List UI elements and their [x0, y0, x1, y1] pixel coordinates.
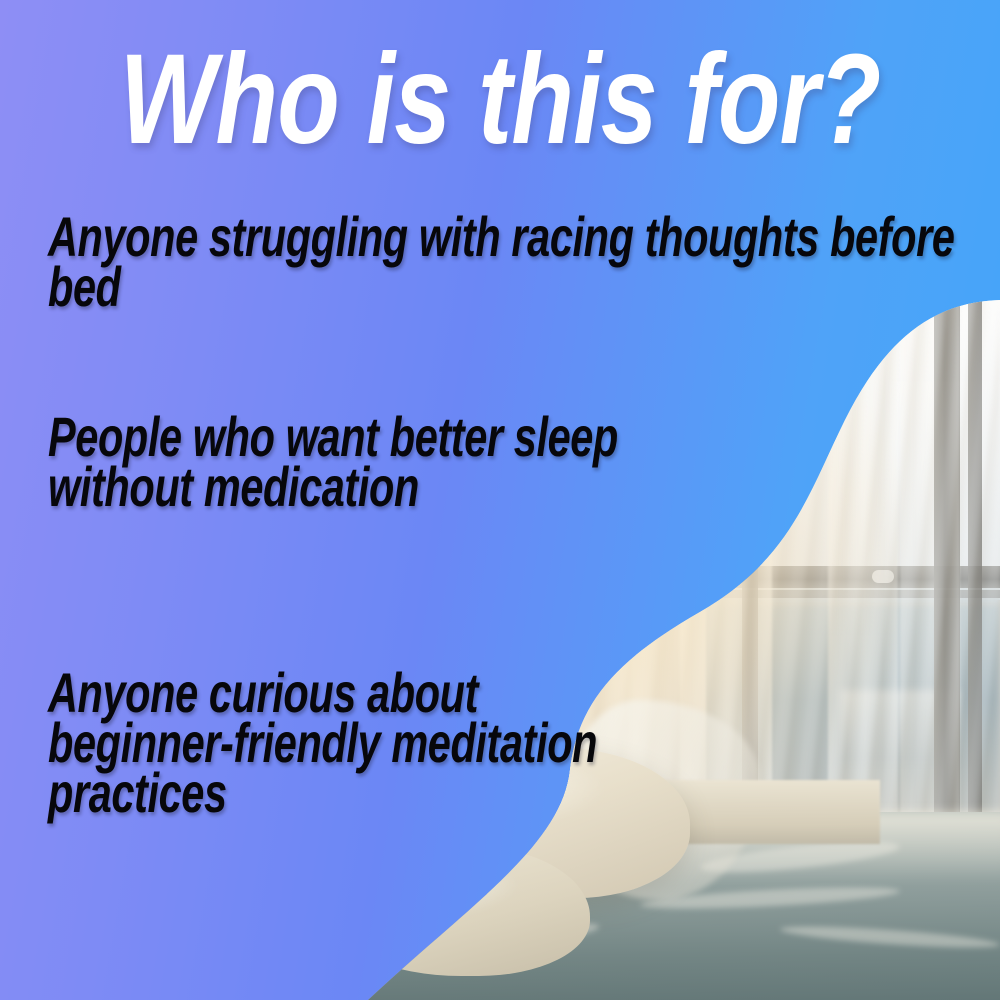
audience-point-2: People who want better sleep without med… [48, 412, 973, 512]
page-title: Who is this for? [100, 36, 900, 164]
poster-canvas: Who is this for? Anyone struggling with … [0, 0, 1000, 1000]
audience-point-1: Anyone struggling with racing thoughts b… [48, 212, 973, 312]
audience-point-3: Anyone curious about beginner-friendly m… [48, 668, 973, 818]
